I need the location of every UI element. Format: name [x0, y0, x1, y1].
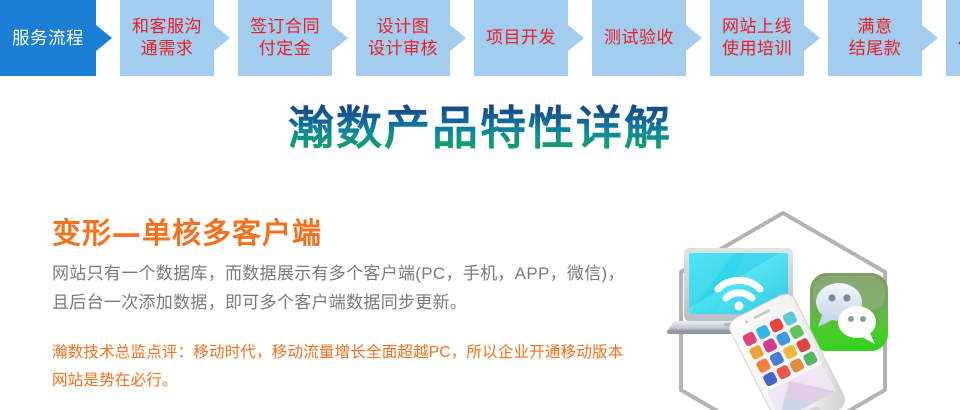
step-label-6: 网站上线 使用培训	[722, 16, 792, 60]
step-label-4: 项目开发	[486, 27, 556, 49]
step-item-3[interactable]: 设计图 设计审核	[356, 0, 450, 76]
step-item-8[interactable]: 后期维护	[946, 0, 960, 76]
step-item-6[interactable]: 网站上线 使用培训	[710, 0, 804, 76]
step-arrow-icon-1	[214, 25, 230, 51]
step-item-4[interactable]: 项目开发	[474, 0, 568, 76]
step-item-5[interactable]: 测试验收	[592, 0, 686, 76]
step-arrow-icon-6	[804, 25, 820, 51]
step-arrow-icon-4	[568, 25, 584, 51]
step-label-2: 签订合同 付定金	[250, 16, 320, 60]
service-process-steps: 服务流程 和客服沟 通需求 签订合同 付定金 设计图 设计审核 项目开发 测试验…	[0, 0, 960, 76]
feature-expert-note: 瀚数技术总监点评：移动时代，移动流量增长全面超越PC，所以企业开通移动版本网站是…	[52, 339, 632, 395]
step-label-1: 和客服沟 通需求	[132, 16, 202, 60]
step-label-7: 满意 结尾款	[849, 16, 902, 60]
feature-heading: 变形—单核多客户端	[52, 215, 632, 251]
feature-body-text: 网站只有一个数据库，而数据展示有多个客户端(PC，手机，APP，微信)，且后台一…	[52, 259, 632, 317]
step-label-0: 服务流程	[12, 27, 84, 49]
wechat-logo-icon	[810, 273, 888, 351]
step-arrow-icon-0	[96, 25, 112, 51]
step-label-3: 设计图 设计审核	[368, 16, 438, 60]
feature-text-block: 变形—单核多客户端 网站只有一个数据库，而数据展示有多个客户端(PC，手机，AP…	[52, 215, 632, 395]
step-arrow-icon-7	[922, 25, 938, 51]
step-arrow-icon-2	[332, 25, 348, 51]
step-arrow-icon-5	[686, 25, 702, 51]
page-title: 瀚数产品特性详解	[0, 100, 960, 156]
step-item-2[interactable]: 签订合同 付定金	[238, 0, 332, 76]
step-arrow-icon-3	[450, 25, 466, 51]
page-root: 服务流程 和客服沟 通需求 签订合同 付定金 设计图 设计审核 项目开发 测试验…	[0, 0, 960, 410]
step-item-0[interactable]: 服务流程	[0, 0, 96, 76]
step-label-5: 测试验收	[604, 27, 674, 49]
step-item-1[interactable]: 和客服沟 通需求	[120, 0, 214, 76]
multi-client-devices-hexagon	[630, 185, 960, 410]
step-item-7[interactable]: 满意 结尾款	[828, 0, 922, 76]
